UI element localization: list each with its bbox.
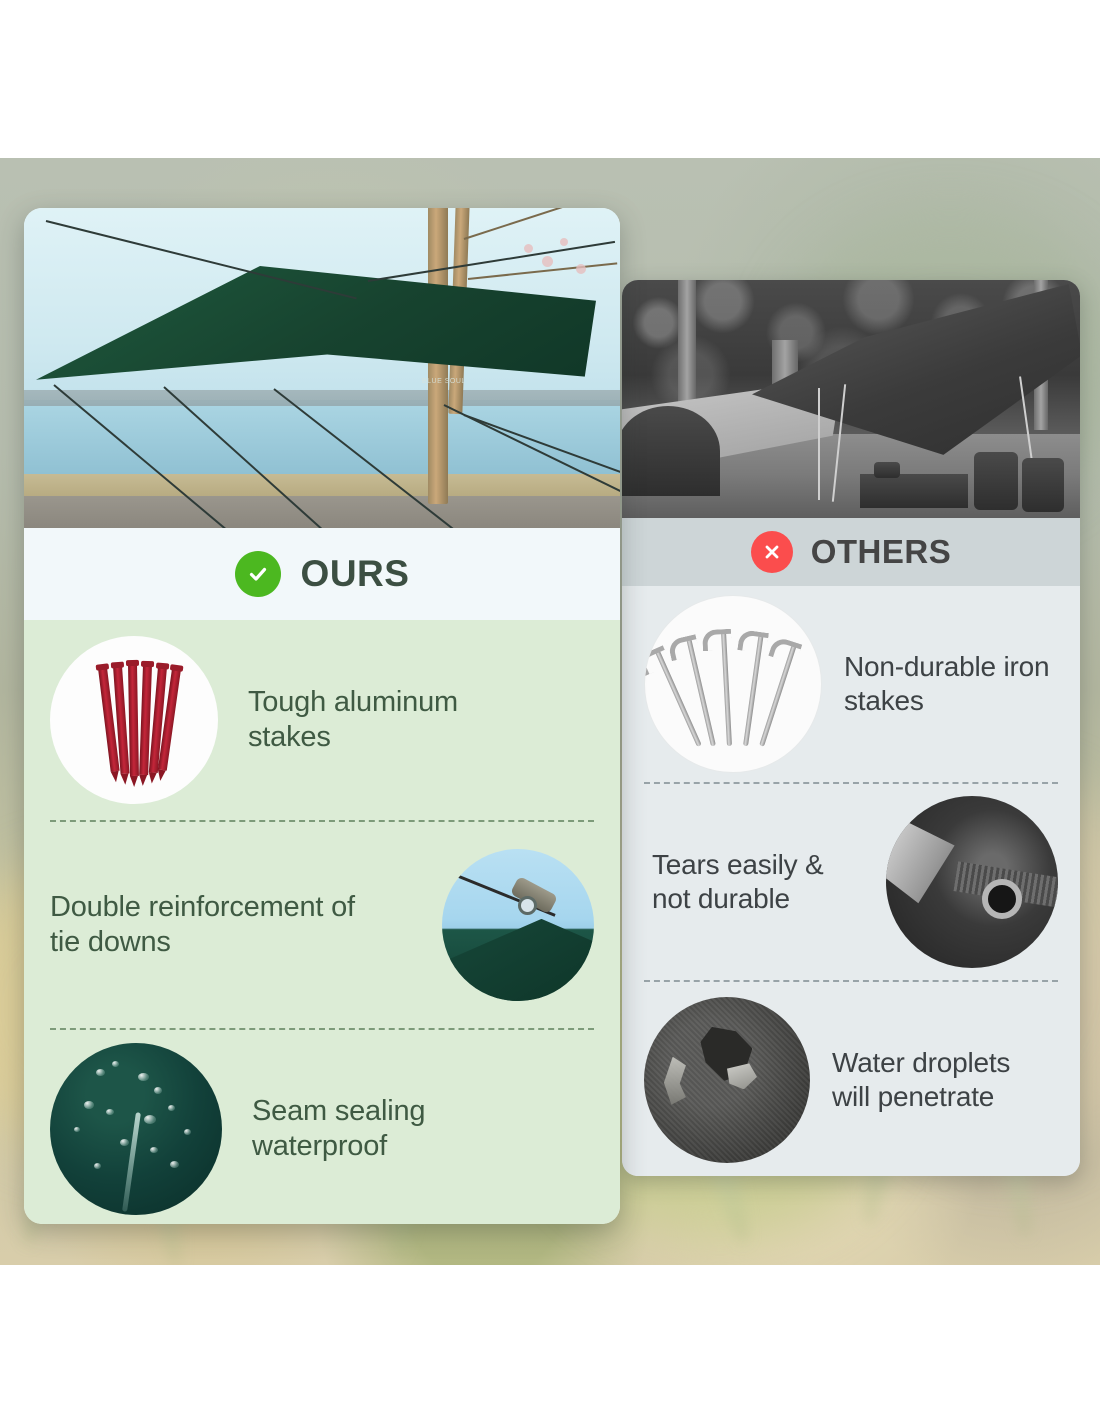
water-droplet — [170, 1161, 179, 1168]
water-droplet — [94, 1163, 101, 1169]
water-droplet — [120, 1139, 129, 1146]
ours-title: OURS — [301, 553, 410, 595]
check-circle-icon — [235, 551, 281, 597]
ours-header: OURS — [24, 528, 620, 620]
camp-cookware — [874, 462, 900, 478]
water-droplet — [74, 1127, 80, 1132]
ours-feature-list: Tough aluminum stakes Double reinforceme… — [24, 620, 620, 1224]
aluminum-stake — [128, 664, 139, 776]
others-feature-row-3: Water droplets will penetrate — [622, 982, 1080, 1176]
water-droplet — [154, 1087, 162, 1094]
ours-feature-label-1: Tough aluminum stakes — [248, 685, 518, 756]
tarp-brand-text: BLUE SOUL — [422, 378, 466, 385]
camp-tent — [622, 406, 720, 496]
blossom — [524, 244, 533, 253]
blossom — [542, 256, 553, 267]
ours-feature-row-3: Seam sealing waterproof — [24, 1030, 620, 1224]
ours-feature-row-1: Tough aluminum stakes — [24, 620, 620, 820]
tarp-pole — [818, 388, 820, 500]
water-droplet — [184, 1129, 191, 1135]
camp-chair — [1022, 458, 1064, 512]
ours-comparison-card: BLUE SOUL OURS Tough aluminum stakes Dou… — [24, 208, 620, 1224]
camp-table — [860, 474, 968, 508]
water-droplet — [96, 1069, 105, 1076]
iron-hook-stakes-thumb — [644, 595, 822, 773]
water-droplet — [106, 1109, 114, 1115]
others-feature-label-1: Non-durable iron stakes — [844, 650, 1058, 718]
water-droplet — [144, 1115, 156, 1124]
x-circle-icon — [751, 531, 793, 573]
others-hero-image — [622, 280, 1080, 518]
water-beading-thumb — [50, 1043, 222, 1215]
torn-grommet-thumb — [886, 796, 1058, 968]
others-feature-list: Non-durable iron stakes Tears easily & n… — [622, 586, 1080, 1176]
iron-stake — [759, 644, 797, 746]
ours-feature-label-3: Seam sealing waterproof — [252, 1094, 502, 1165]
reinforced-grommet — [518, 896, 537, 915]
water-droplet — [150, 1147, 158, 1153]
tie-down-reinforcement-thumb — [442, 849, 594, 1001]
iron-stake — [721, 632, 732, 746]
others-feature-label-3: Water droplets will penetrate — [832, 1046, 1052, 1114]
others-feature-label-2: Tears easily & not durable — [652, 848, 860, 916]
tarp-edge — [886, 806, 982, 909]
frayed-fibers — [664, 1057, 686, 1105]
others-title: OTHERS — [811, 533, 952, 571]
others-feature-row-1: Non-durable iron stakes — [622, 586, 1080, 782]
aluminum-stakes-thumb — [50, 636, 218, 804]
camp-chair — [974, 452, 1018, 510]
road — [24, 496, 620, 528]
torn-fabric-thumb — [644, 997, 810, 1163]
sealed-seam — [122, 1112, 141, 1211]
others-comparison-card: OTHERS Non-durable iron stakes Tears eas… — [622, 280, 1080, 1176]
iron-stake — [743, 635, 764, 747]
blossom — [560, 238, 568, 246]
blossom — [576, 264, 586, 274]
water-droplet — [168, 1105, 175, 1111]
others-feature-row-2: Tears easily & not durable — [622, 784, 1080, 980]
water-droplet — [112, 1061, 119, 1067]
others-header: OTHERS — [622, 518, 1080, 586]
lake-water — [24, 406, 620, 476]
ours-hero-image: BLUE SOUL — [24, 208, 620, 528]
tarp-corner-fabric — [442, 919, 594, 1001]
ours-feature-row-2: Double reinforcement of tie downs — [24, 822, 620, 1028]
ours-feature-label-2: Double reinforcement of tie downs — [50, 890, 380, 961]
water-droplet — [138, 1073, 149, 1081]
metal-grommet — [982, 879, 1022, 919]
water-droplet — [84, 1101, 94, 1109]
